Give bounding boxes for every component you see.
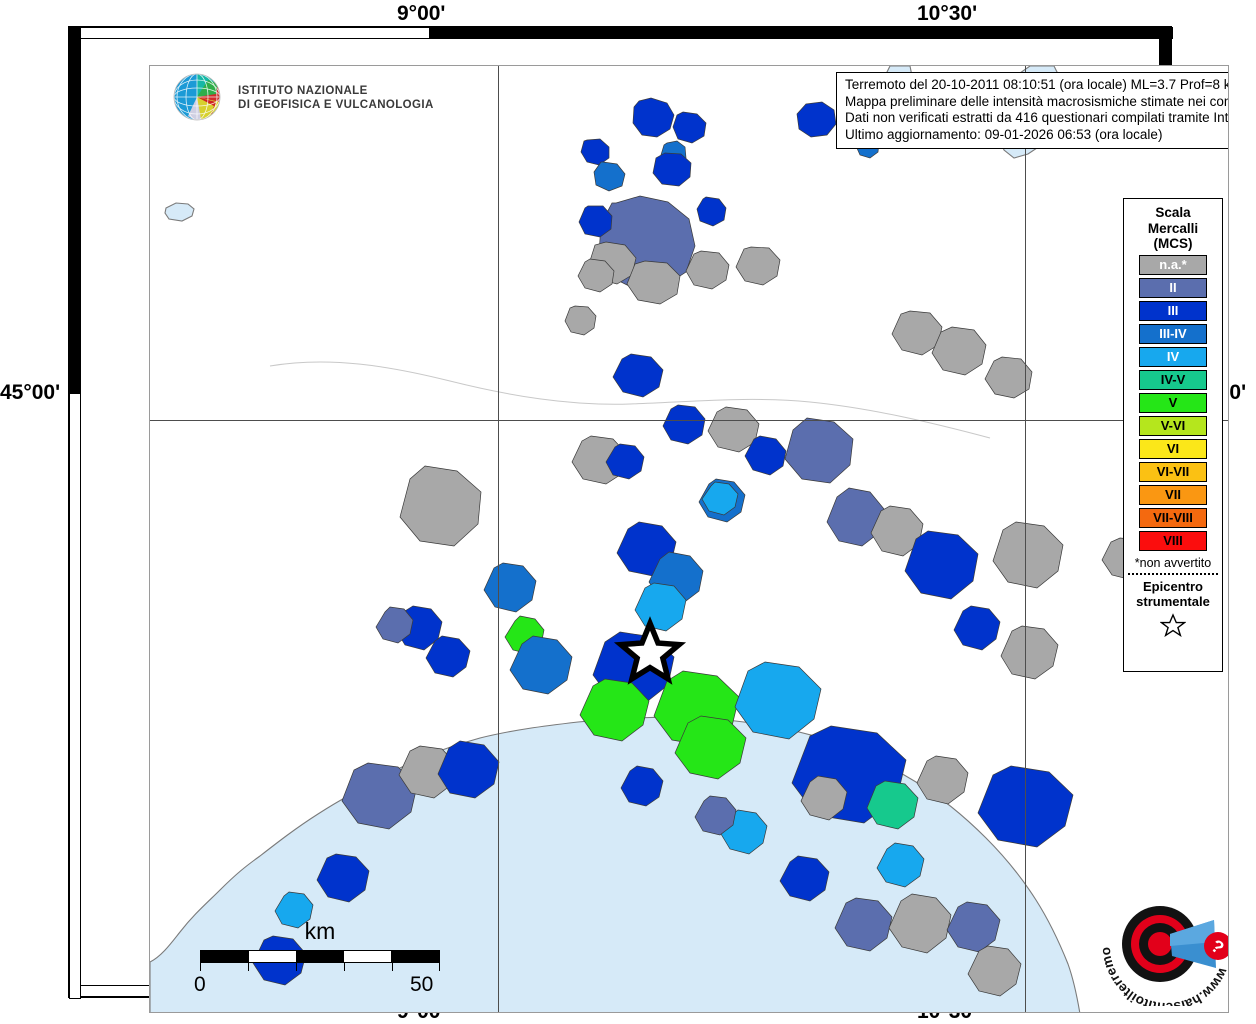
legend-title-line-2: Mercalli <box>1124 221 1222 237</box>
scale-numbers: 0 50 <box>200 973 440 999</box>
info-line-source: Dati non verificati estratti da 416 ques… <box>845 110 1229 127</box>
gridline-10-30 <box>1025 66 1026 1012</box>
map-frame: ISTITUTO NAZIONALE DI GEOFISICA E VULCAN… <box>68 26 1172 998</box>
scale-bar: km 0 50 <box>200 918 440 999</box>
earthquake-info-box: Terremoto del 20-10-2011 08:10:51 (ora l… <box>836 72 1229 149</box>
municipality-polygon[interactable] <box>594 162 625 191</box>
haisentitoilterremoto-logo[interactable]: ? www.haisentitoilterremoto.it <box>1092 876 1229 1006</box>
municipality-polygon[interactable] <box>932 327 986 375</box>
legend-swatch-viii: VIII <box>1139 531 1207 551</box>
info-line-description: Mappa preliminare delle intensità macros… <box>845 94 1229 111</box>
legend-swatch-list: n.a.*IIIIIIII-IVIVIV-VVV-VIVIVI-VIIVIIVI… <box>1124 255 1222 551</box>
ingv-globe-icon <box>170 72 228 124</box>
mercalli-scale-legend: Scala Mercalli (MCS) n.a.*IIIIIIII-IVIVI… <box>1123 198 1223 672</box>
legend-divider <box>1128 573 1218 575</box>
ingv-logo: ISTITUTO NAZIONALE DI GEOFISICA E VULCAN… <box>170 72 434 124</box>
municipality-polygon[interactable] <box>400 466 481 546</box>
municipality-polygon[interactable] <box>633 98 674 137</box>
legend-swatch-v-vi: V-VI <box>1139 416 1207 436</box>
legend-swatch-iv: IV <box>1139 347 1207 367</box>
municipality-polygon[interactable] <box>686 251 729 289</box>
map-plot-area[interactable]: ISTITUTO NAZIONALE DI GEOFISICA E VULCAN… <box>149 65 1229 1013</box>
gridline-45-00 <box>150 420 1228 421</box>
axis-label-top-right: 10°30' <box>917 2 977 26</box>
frame-band-top <box>69 27 1173 39</box>
legend-swatch-vii: VII <box>1139 485 1207 505</box>
municipality-polygon[interactable] <box>663 405 705 444</box>
legend-epicenter-line-2: strumentale <box>1124 594 1222 609</box>
municipality-polygon[interactable] <box>484 563 536 612</box>
municipality-polygon[interactable] <box>653 153 691 186</box>
legend-swatch-iv-v: IV-V <box>1139 370 1207 390</box>
legend-swatch-v: V <box>1139 393 1207 413</box>
legend-swatch-vii-viii: VII-VIII <box>1139 508 1207 528</box>
legend-epicenter-line-1: Epicentro <box>1124 579 1222 594</box>
legend-swatch-vi-vii: VI-VII <box>1139 462 1207 482</box>
scale-ticks <box>200 963 440 973</box>
municipality-polygon[interactable] <box>613 354 663 397</box>
municipality-polygon[interactable] <box>1001 626 1058 679</box>
legend-swatch-n-a-: n.a.* <box>1139 255 1207 275</box>
municipality-polygon[interactable] <box>993 522 1063 588</box>
gridline-9-00 <box>498 66 499 1012</box>
legend-epicenter-star-icon <box>1124 613 1222 642</box>
municipality-polygon[interactable] <box>581 139 609 165</box>
scale-start-label: 0 <box>194 973 206 997</box>
haisentito-logo-icon[interactable]: ? www.haisentitoilterremoto.it <box>1092 876 1229 1006</box>
municipality-polygon[interactable] <box>785 418 853 483</box>
ingv-org-line-2: DI GEOFISICA E VULCANOLOGIA <box>238 98 434 113</box>
municipality-polygon[interactable] <box>673 112 706 143</box>
municipality-polygon[interactable] <box>797 102 836 137</box>
municipality-polygon[interactable] <box>736 247 780 285</box>
axis-label-left: 45°00' <box>0 381 60 405</box>
municipality-polygon[interactable] <box>697 197 726 226</box>
legend-swatch-iii: III <box>1139 301 1207 321</box>
legend-swatch-iii-iv: III-IV <box>1139 324 1207 344</box>
ingv-org-line-1: ISTITUTO NAZIONALE <box>238 84 434 99</box>
municipality-polygon[interactable] <box>954 606 1000 650</box>
scale-unit-label: km <box>200 918 440 945</box>
municipality-polygon[interactable] <box>565 306 596 335</box>
lake-polygon-left <box>165 203 194 221</box>
municipality-polygon[interactable] <box>905 531 978 599</box>
map-canvas[interactable] <box>150 66 1229 1013</box>
legend-title-line-1: Scala <box>1124 205 1222 221</box>
info-line-updated: Ultimo aggiornamento: 09-01-2026 06:53 (… <box>845 127 1229 144</box>
legend-swatch-vi: VI <box>1139 439 1207 459</box>
scale-bar-graphic <box>200 950 440 963</box>
frame-band-left <box>69 27 81 999</box>
axis-label-top-left: 9°00' <box>397 2 445 26</box>
scale-end-label: 50 <box>410 973 433 997</box>
info-line-magnitude: Terremoto del 20-10-2011 08:10:51 (ora l… <box>845 77 1229 94</box>
legend-swatch-ii: II <box>1139 278 1207 298</box>
legend-footnote: *non avvertito <box>1124 556 1222 570</box>
legend-title-line-3: (MCS) <box>1124 236 1222 252</box>
